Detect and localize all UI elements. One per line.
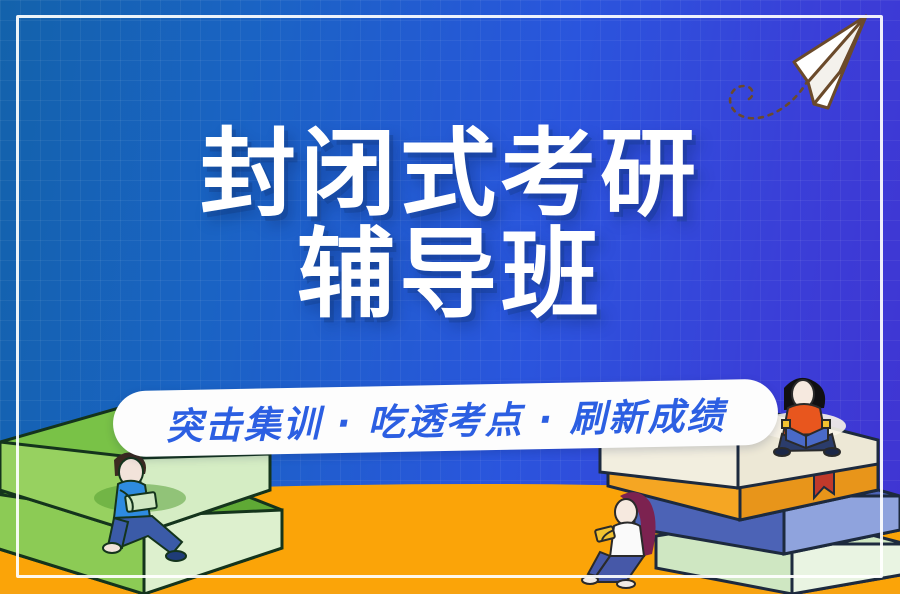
subtitle-text: 突击集训 · 吃透考点 · 刷新成绩 xyxy=(112,379,778,458)
headline-line-2: 辅导班 xyxy=(0,225,900,327)
dashed-spiral-trail xyxy=(730,80,808,118)
person-reading-on-book xyxy=(774,378,840,456)
paper-airplane-icon xyxy=(690,8,890,143)
orange-ground-shade xyxy=(0,590,900,594)
paper-airplane-body xyxy=(794,16,866,108)
subtitle-pill: 突击集训 · 吃透考点 · 刷新成绩 xyxy=(112,379,778,458)
orange-ground-band xyxy=(0,484,900,594)
headline-line-1: 封闭式考研 xyxy=(0,125,900,225)
course-promo-banner: 封闭式考研 辅导班 突击集训 · 吃透考点 · 刷新成绩 xyxy=(0,0,900,594)
page-title: 封闭式考研 辅导班 xyxy=(0,125,900,327)
